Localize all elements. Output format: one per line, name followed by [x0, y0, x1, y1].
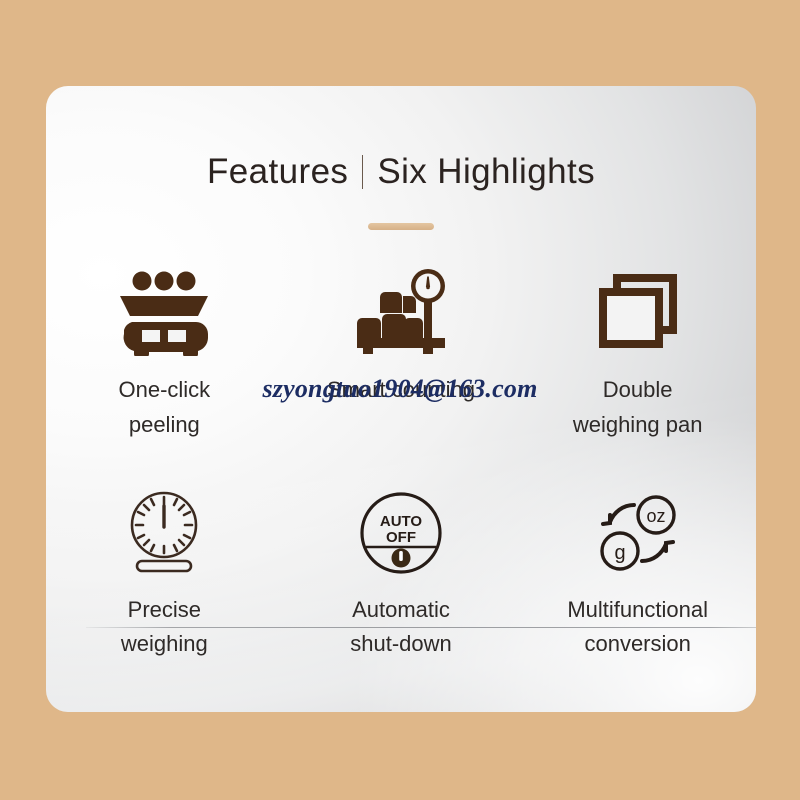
unit-g-label: g: [614, 542, 625, 564]
feature-label-line1: Double: [573, 373, 703, 408]
feature-item-smart-counting[interactable]: Smart counting: [283, 267, 520, 465]
feature-label-line2: weighing pan: [573, 408, 703, 443]
title-left: Features: [193, 154, 362, 189]
feature-label-line1: One-click: [118, 373, 210, 408]
feature-label-line2: weighing: [121, 627, 208, 662]
feature-label: Double weighing pan: [573, 373, 703, 443]
feature-grid: One-click peeling: [46, 267, 756, 662]
unit-oz-label: oz: [646, 506, 665, 526]
feature-item-precise-weighing[interactable]: Precise weighing: [46, 465, 283, 663]
svg-text:OFF: OFF: [386, 529, 416, 546]
unit-conversion-cycle-icon: oz g: [590, 487, 686, 579]
double-pan-squares-icon: [595, 267, 681, 359]
title-accent-bar: [368, 223, 434, 230]
feature-label: Multifunctional conversion: [567, 593, 708, 663]
scale-with-items-icon: [118, 267, 210, 359]
feature-item-multifunctional-conversion[interactable]: oz g Multifunctional conversion: [519, 465, 756, 663]
feature-label: Smart counting: [327, 373, 475, 408]
page-title: Features Six Highlights: [193, 154, 609, 189]
feature-label-line2: conversion: [567, 627, 708, 662]
feature-label-line2: peeling: [118, 408, 210, 443]
feature-label: One-click peeling: [118, 373, 210, 443]
feature-item-double-weighing-pan[interactable]: Double weighing pan: [519, 267, 756, 465]
feature-label: Automatic shut-down: [350, 593, 452, 663]
feature-label-line1: Multifunctional: [567, 593, 708, 628]
card-header: Features Six Highlights: [46, 86, 756, 230]
svg-text:AUTO: AUTO: [380, 513, 423, 530]
feature-item-one-click-peeling[interactable]: One-click peeling: [46, 267, 283, 465]
feature-card: Features Six Highlights: [46, 86, 756, 712]
dial-scale-counting-icon: [351, 267, 451, 359]
gauge-dial-icon: [118, 487, 210, 579]
feature-label-line1: Automatic: [350, 593, 452, 628]
page-root: Features Six Highlights: [0, 0, 800, 800]
feature-item-automatic-shutdown[interactable]: AUTO OFF Automatic shut-down: [283, 465, 520, 663]
auto-off-power-icon: AUTO OFF: [358, 487, 444, 579]
feature-label-line1: Smart counting: [327, 373, 475, 408]
feature-label-line1: Precise: [121, 593, 208, 628]
feature-label: Precise weighing: [121, 593, 208, 663]
feature-label-line2: shut-down: [350, 627, 452, 662]
title-right: Six Highlights: [363, 154, 609, 189]
